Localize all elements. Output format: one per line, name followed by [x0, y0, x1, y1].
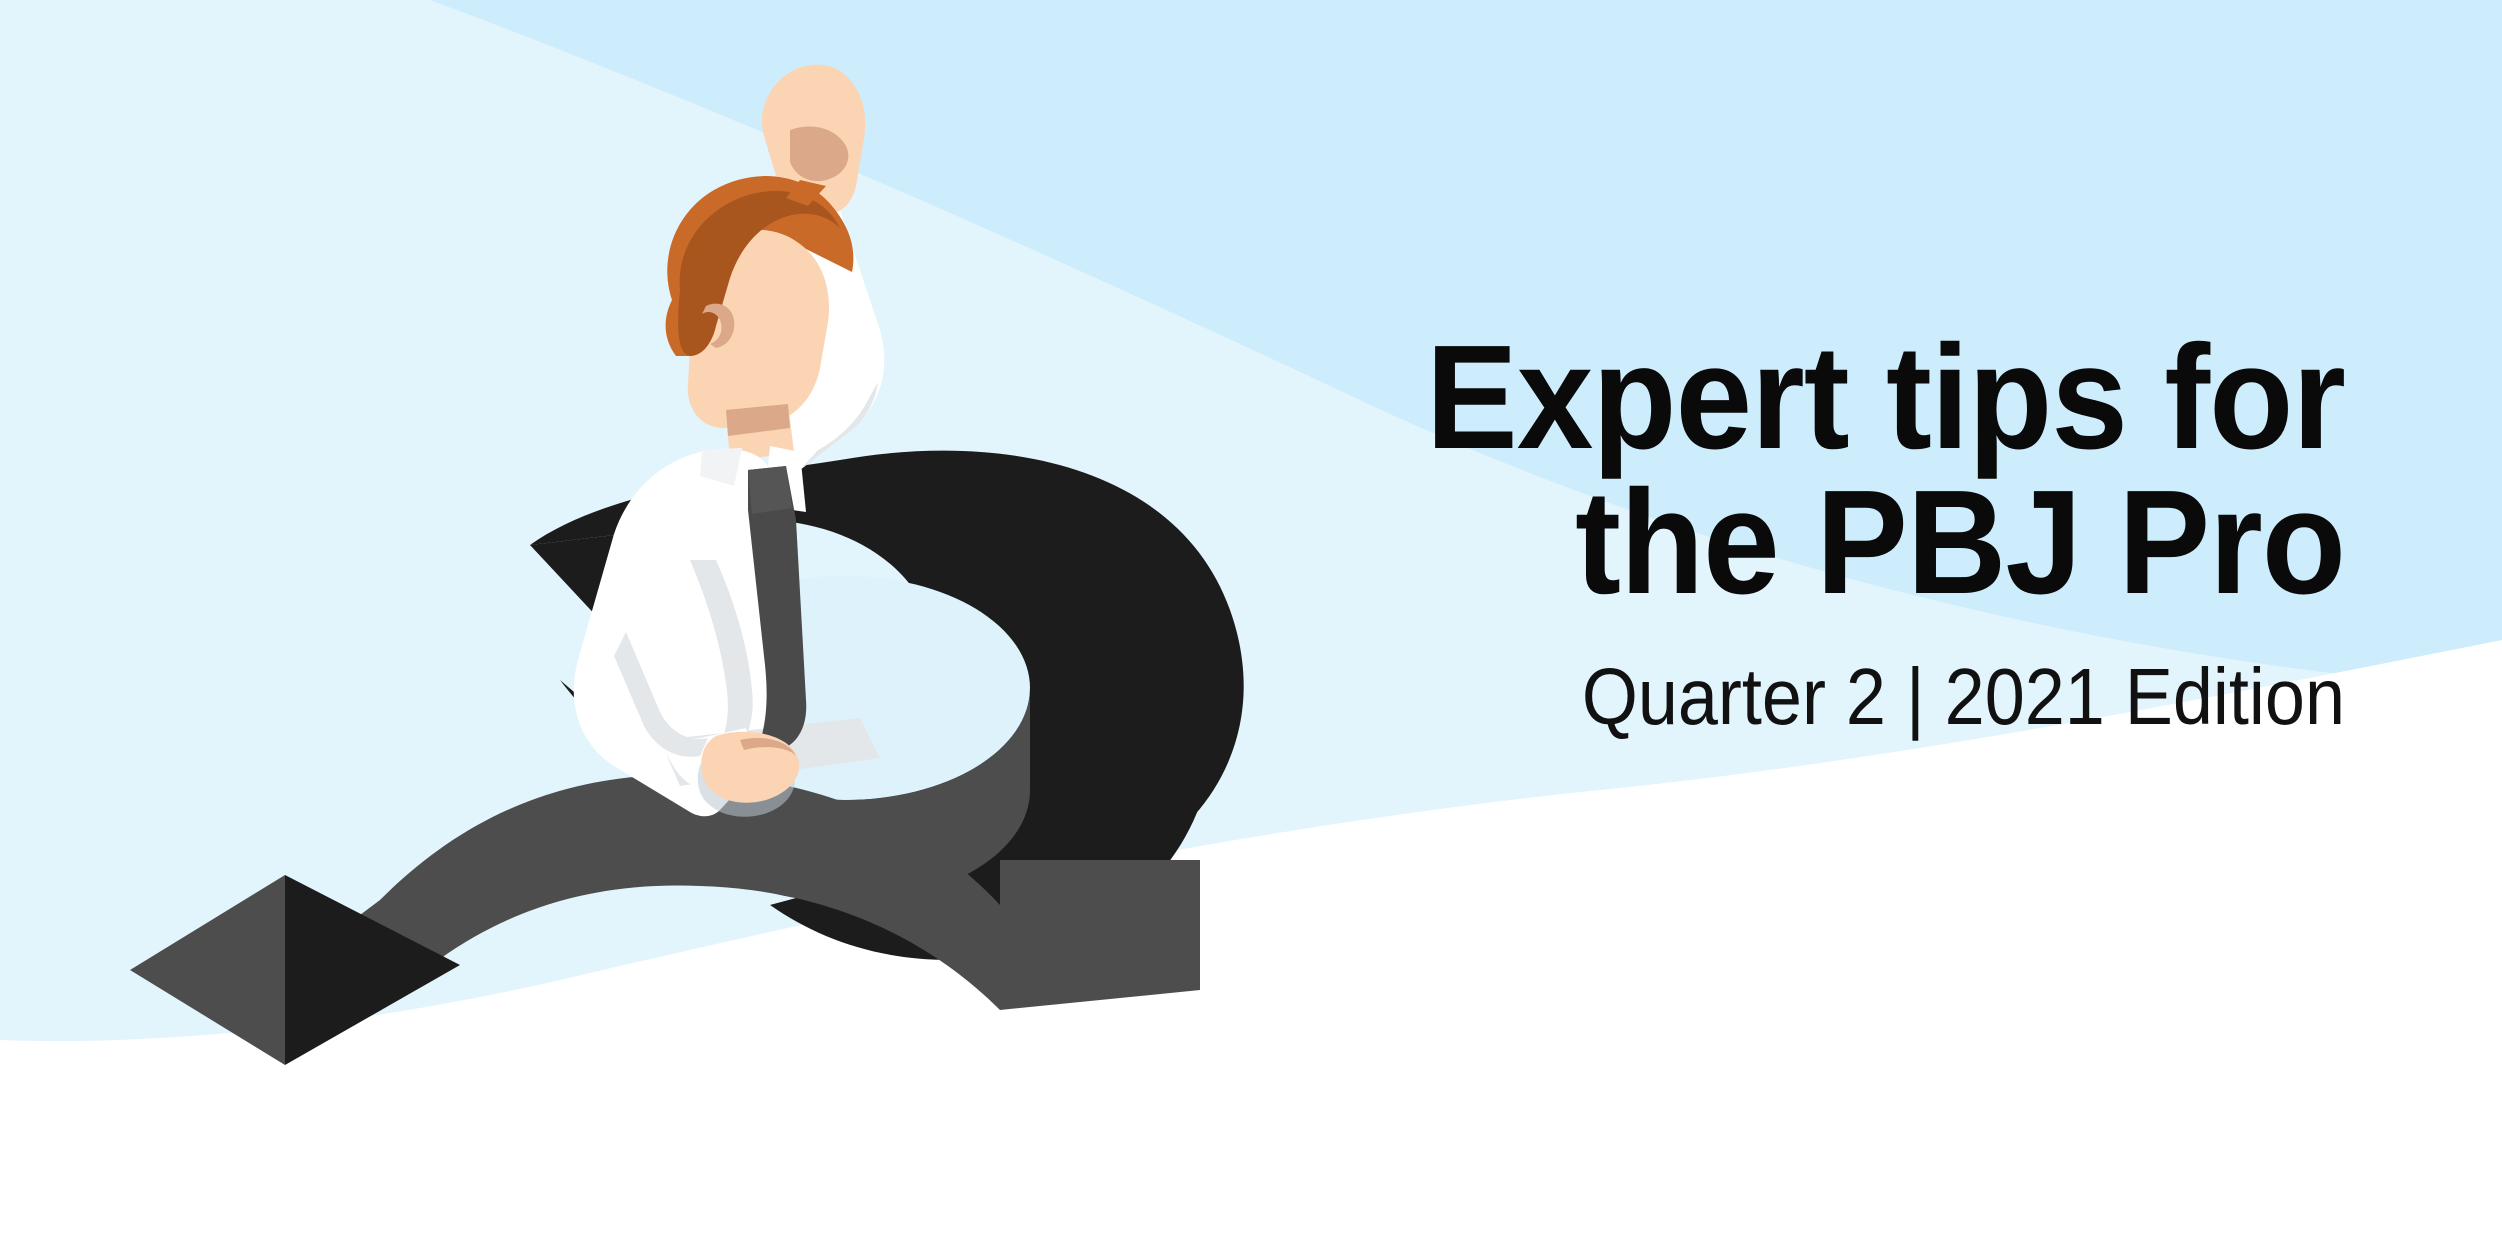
necktie-knot [748, 466, 792, 514]
banner-canvas: Expert tips for the PBJ Pro Quarter 2 | … [0, 0, 2502, 1252]
question-mark-dot-left-face [130, 875, 285, 1065]
headline-block: Expert tips for the PBJ Pro Quarter 2 | … [1105, 325, 2345, 737]
subtitle: Quarter 2 | 2021 Edition [1229, 657, 2345, 737]
fist-thumb [768, 112, 790, 152]
question-mark-stem-connector [1000, 860, 1200, 1010]
page-title: Expert tips for the PBJ Pro [1192, 325, 2345, 615]
